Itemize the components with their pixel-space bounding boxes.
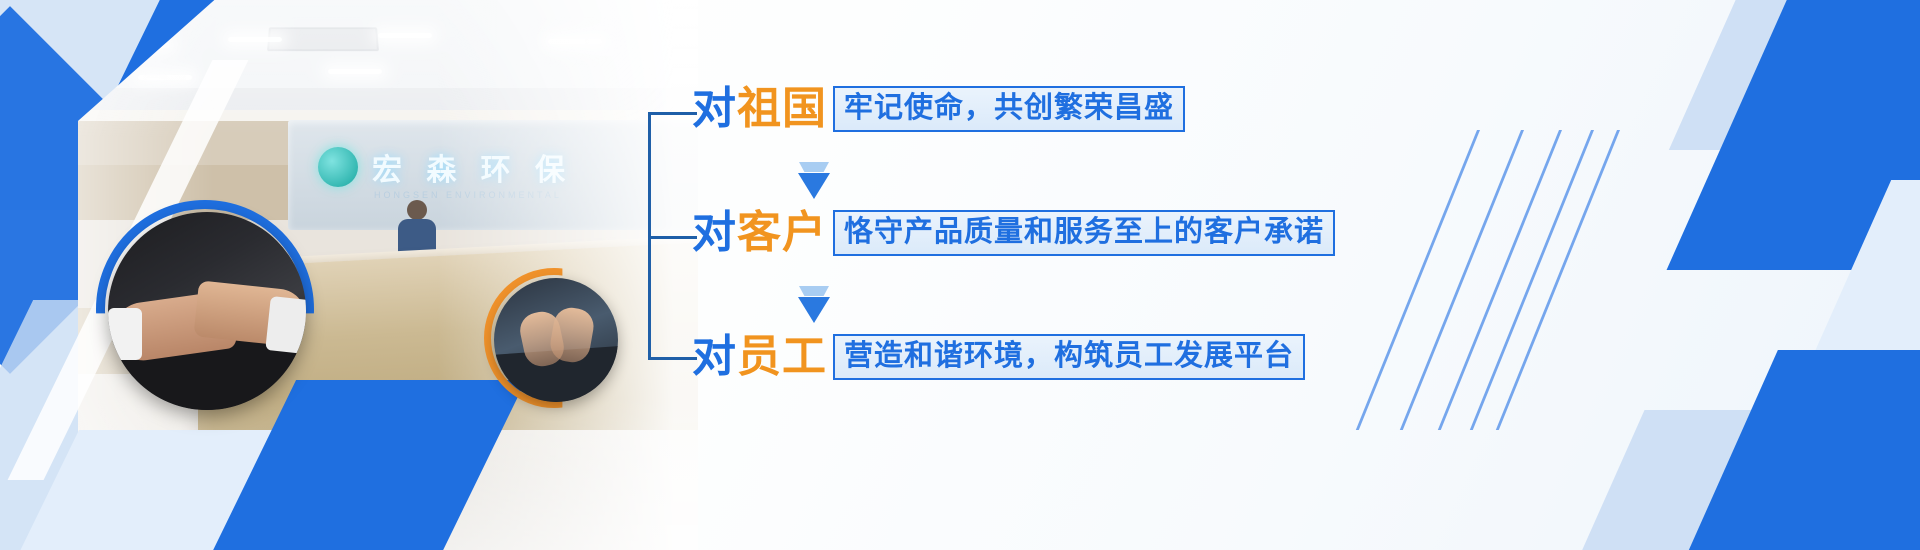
- slogan-statement-country: 牢记使命，共创繁荣昌盛: [833, 86, 1185, 132]
- slogan-lead-prefix: 对: [692, 208, 737, 257]
- bracket-middle-tick: [651, 236, 697, 239]
- slogan-lead-keyword: 祖国: [737, 84, 827, 133]
- promo-banner: 宏 森 环 保 HONGSEN ENVIRONMENTAL: [0, 0, 1920, 550]
- slogan-lead-prefix: 对: [692, 332, 737, 381]
- handshake-photo-badge: [108, 212, 306, 410]
- slogan-lead-employee: 对员工: [692, 335, 827, 379]
- slogan-row-country: 对祖国 牢记使命，共创繁荣昌盛: [692, 86, 1185, 132]
- decor-diagonal-lines: [1360, 130, 1620, 450]
- slogan-group: 对祖国 牢记使命，共创繁荣昌盛 对客户 恪守产品质量和服务至上的客户承诺 对员工…: [648, 86, 1348, 386]
- slogan-lead-keyword: 员工: [737, 332, 827, 381]
- slogan-statement-employee: 营造和谐环境，构筑员工发展平台: [833, 334, 1305, 380]
- slogan-lead-country: 对祖国: [692, 87, 827, 131]
- applause-photo-badge: [494, 278, 618, 402]
- bracket-connector: [648, 112, 694, 360]
- slogan-lead-keyword: 客户: [737, 208, 827, 257]
- slogan-lead-prefix: 对: [692, 84, 737, 133]
- slogan-lead-customer: 对客户: [692, 211, 827, 255]
- slogan-statement-customer: 恪守产品质量和服务至上的客户承诺: [833, 210, 1335, 256]
- slogan-row-employee: 对员工 营造和谐环境，构筑员工发展平台: [692, 334, 1305, 380]
- slogan-row-customer: 对客户 恪守产品质量和服务至上的客户承诺: [692, 210, 1335, 256]
